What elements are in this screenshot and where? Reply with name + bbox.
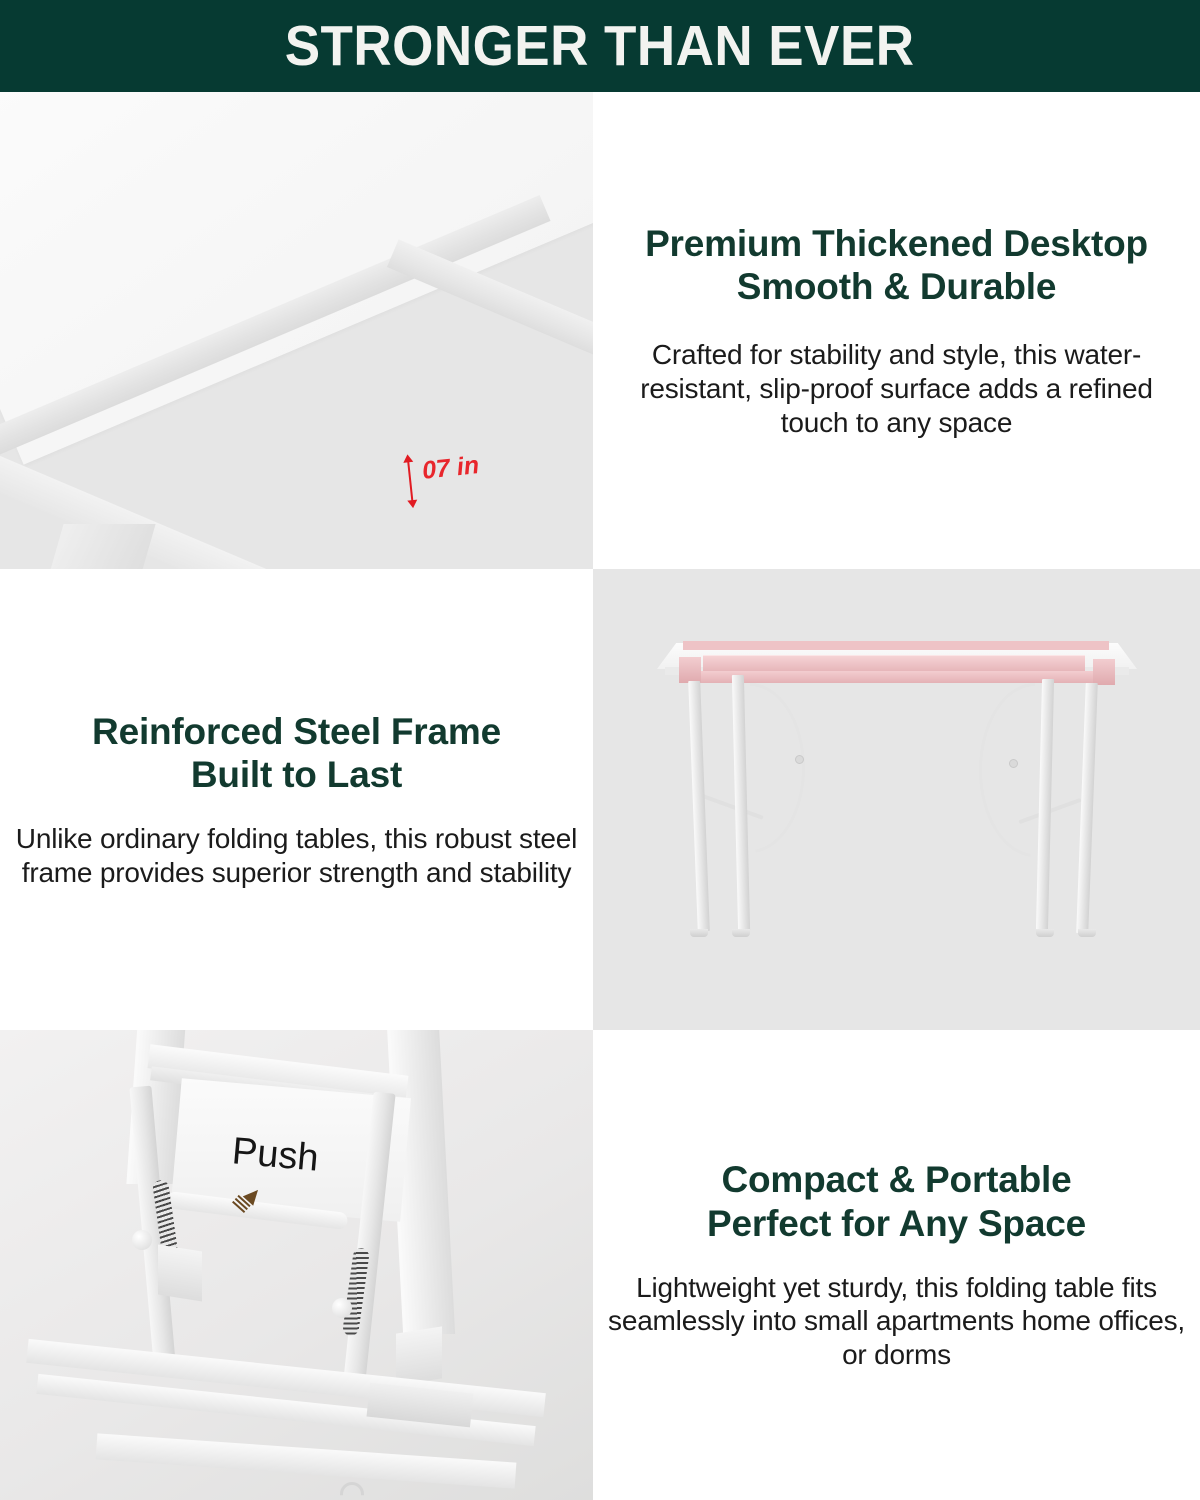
premium-desktop-headline: Premium Thickened Desktop Smooth & Durab… bbox=[645, 222, 1148, 309]
table-foot-3 bbox=[1036, 929, 1054, 937]
compact-portable-headline-line1: Compact & Portable bbox=[707, 1158, 1086, 1201]
folding-brace-right bbox=[979, 683, 1091, 857]
table-foot-1 bbox=[690, 929, 708, 937]
page-title: STRONGER THAN EVER bbox=[285, 18, 915, 75]
premium-desktop-headline-line1: Premium Thickened Desktop bbox=[645, 222, 1148, 265]
feature-grid: 07 in Premium Thickened Desktop Smooth &… bbox=[0, 92, 1200, 1500]
premium-desktop-body-text: Crafted for stability and style, this wa… bbox=[607, 338, 1186, 439]
hinge-knuckle-left bbox=[132, 1230, 152, 1250]
steel-frame-headline-line2: Built to Last bbox=[92, 753, 501, 796]
product-infographic: STRONGER THAN EVER 07 in Premium Thicken… bbox=[0, 0, 1200, 1500]
premium-desktop-headline-line2: Smooth & Durable bbox=[645, 265, 1148, 308]
panel-premium-desktop-copy: Premium Thickened Desktop Smooth & Durab… bbox=[593, 92, 1200, 569]
thickness-dimension-label: 07 in bbox=[421, 451, 481, 486]
mounting-bracket-right bbox=[396, 1326, 442, 1385]
header-banner: STRONGER THAN EVER bbox=[0, 0, 1200, 92]
hinge-knuckle-right bbox=[332, 1298, 352, 1318]
steel-rail-main-accent bbox=[703, 655, 1085, 671]
steel-rail-front-accent bbox=[693, 671, 1093, 683]
steel-frame-headline: Reinforced Steel Frame Built to Last bbox=[92, 710, 501, 797]
folding-brace-left bbox=[695, 683, 805, 853]
table-leg-2 bbox=[732, 675, 750, 931]
rail-corner-block-right bbox=[1093, 659, 1115, 685]
folding-mechanism-illustration: Push bbox=[0, 1030, 593, 1500]
panel-push-mechanism-photo: Push bbox=[0, 1030, 593, 1500]
steel-rail-back-accent bbox=[683, 641, 1109, 650]
mounting-bracket-left bbox=[158, 1245, 202, 1302]
panel-compact-portable-copy: Compact & Portable Perfect for Any Space… bbox=[593, 1030, 1200, 1500]
table-foot-4 bbox=[1078, 929, 1096, 937]
thickness-dimension-annotation: 07 in bbox=[403, 444, 518, 507]
panel-steel-frame-copy: Reinforced Steel Frame Built to Last Unl… bbox=[0, 569, 593, 1030]
panel-frame-underside-photo bbox=[593, 569, 1200, 1030]
folding-table-illustration bbox=[657, 627, 1137, 967]
steel-frame-headline-line1: Reinforced Steel Frame bbox=[92, 710, 501, 753]
brace-pivot-right bbox=[1009, 759, 1018, 768]
compact-portable-body-text: Lightweight yet sturdy, this folding tab… bbox=[607, 1271, 1186, 1372]
table-leg-1 bbox=[688, 681, 710, 931]
compact-portable-headline: Compact & Portable Perfect for Any Space bbox=[707, 1158, 1086, 1245]
panel-desktop-thickness-photo: 07 in bbox=[0, 92, 593, 569]
push-instruction-label: Push bbox=[230, 1130, 320, 1180]
table-foot-2 bbox=[732, 929, 750, 937]
brace-pivot-left bbox=[795, 755, 804, 764]
rail-corner-block-left bbox=[679, 657, 701, 683]
table-leg-3 bbox=[1036, 679, 1054, 931]
table-leg-4 bbox=[1076, 683, 1098, 933]
steel-frame-body-text: Unlike ordinary folding tables, this rob… bbox=[14, 822, 579, 889]
compact-portable-headline-line2: Perfect for Any Space bbox=[707, 1202, 1086, 1245]
double-headed-vertical-arrow-icon bbox=[407, 461, 413, 501]
desk-leg-shape bbox=[46, 524, 155, 569]
